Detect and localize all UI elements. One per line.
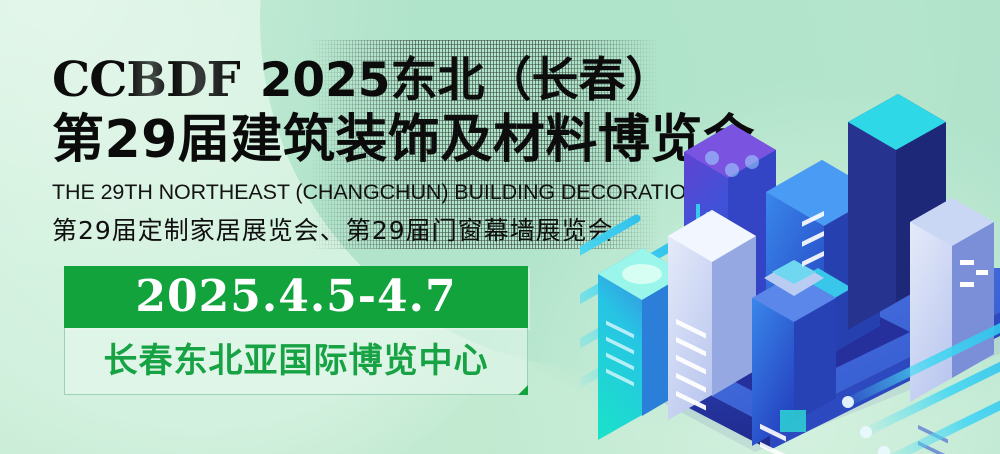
city-illustration — [580, 54, 1000, 454]
promo-banner: CCBDF 2025东北（长春） 第29届建筑装饰及材料博览会 THE 29TH… — [0, 0, 1000, 454]
event-details-block: 2025.4.5-4.7 长春东北亚国际博览中心 — [64, 266, 528, 395]
event-date: 2025.4.5-4.7 — [135, 275, 456, 319]
event-venue-box: 长春东北亚国际博览中心 — [64, 328, 528, 395]
venue-corner-accent — [518, 385, 528, 395]
brand-acronym: CCBDF — [52, 56, 240, 104]
event-venue: 长春东北亚国际博览中心 — [104, 344, 489, 378]
event-date-bar: 2025.4.5-4.7 — [64, 266, 528, 328]
